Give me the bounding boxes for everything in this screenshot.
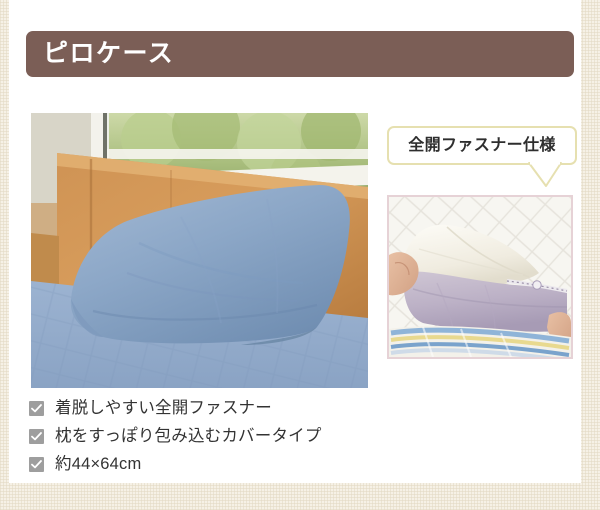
callout-label: 全開ファスナー仕様 bbox=[389, 138, 575, 154]
page-title: ピロケース bbox=[43, 42, 174, 67]
feature-label: 約44×64cm bbox=[55, 456, 141, 473]
blue-pillow-on-bed-photo bbox=[31, 113, 368, 388]
feature-list: 着脱しやすい全開ファスナー 枕をすっぽり包み込むカバータイプ 約44×64cm bbox=[29, 396, 429, 480]
feature-label: 枕をすっぽり包み込むカバータイプ bbox=[55, 428, 322, 445]
callout-bubble: 全開ファスナー仕様 bbox=[387, 126, 577, 165]
page-background: ピロケース bbox=[0, 0, 600, 510]
check-icon bbox=[29, 401, 44, 416]
check-icon bbox=[29, 429, 44, 444]
zipper-insertion-photo bbox=[387, 195, 573, 359]
list-item: 着脱しやすい全開ファスナー bbox=[29, 396, 429, 421]
check-icon bbox=[29, 457, 44, 472]
content-card: ピロケース bbox=[9, 0, 581, 483]
callout-bubble-tail bbox=[528, 162, 562, 188]
feature-label: 着脱しやすい全開ファスナー bbox=[55, 400, 272, 417]
list-item: 約44×64cm bbox=[29, 452, 429, 477]
list-item: 枕をすっぽり包み込むカバータイプ bbox=[29, 424, 429, 449]
section-heading-bar: ピロケース bbox=[26, 31, 574, 77]
